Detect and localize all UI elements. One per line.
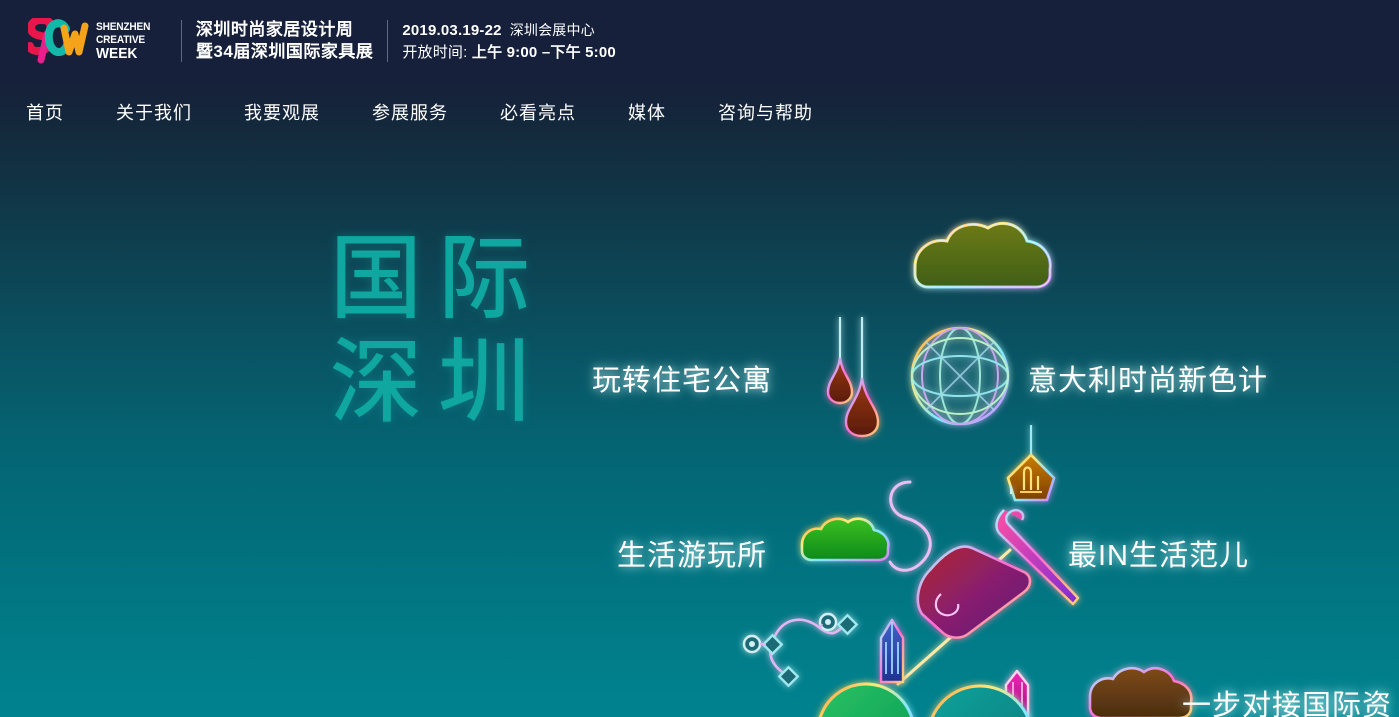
nav-item-highlights[interactable]: 必看亮点 — [500, 93, 576, 131]
nav-item-about-us[interactable]: 关于我们 — [116, 93, 192, 131]
brand-row: SHENZHEN CREATIVE WEEK 深圳时尚家居设计周 暨34届深圳国… — [28, 14, 616, 68]
event-name: 深圳时尚家居设计周 暨34届深圳国际家具展 — [196, 17, 373, 65]
hero-headline: 国 际 深 圳 — [330, 227, 530, 435]
page-root: SHENZHEN CREATIVE WEEK 深圳时尚家居设计周 暨34届深圳国… — [0, 0, 1399, 717]
logo-wordmark: SHENZHEN CREATIVE WEEK — [96, 18, 155, 64]
event-venue: 深圳会展中心 — [502, 22, 595, 38]
needle-thread-icon — [890, 482, 1078, 604]
nav-item-help[interactable]: 咨询与帮助 — [718, 93, 813, 131]
main-navigation: 首页 关于我们 我要观展 参展服务 必看亮点 媒体 咨询与帮助 — [0, 82, 1399, 142]
nav-item-media[interactable]: 媒体 — [628, 93, 666, 131]
brown-cloud-icon — [1090, 668, 1191, 717]
nav-item-home[interactable]: 首页 — [26, 93, 64, 131]
bezier-path-icon — [744, 614, 857, 686]
scw-logo-icon[interactable] — [28, 18, 90, 64]
feature-label-residential[interactable]: 玩转住宅公寓 — [592, 357, 772, 399]
hero-banner: 国 际 深 圳 — [0, 142, 1399, 717]
cloud-icon — [915, 223, 1050, 287]
event-date-row: 2019.03.19-22深圳会展中心 — [402, 19, 616, 42]
nav-item-visit[interactable]: 我要观展 — [244, 93, 320, 131]
magenta-pencil-icon — [1006, 671, 1028, 717]
small-cloud-icon — [802, 519, 888, 560]
headline-char-3: 深 — [330, 331, 422, 435]
headline-char-4: 圳 — [438, 331, 530, 435]
event-name-line-2: 暨34届深圳国际家具展 — [196, 41, 373, 63]
event-name-line-1: 深圳时尚家居设计周 — [196, 19, 373, 41]
teal-circle-icon — [928, 686, 1032, 717]
green-circle-icon — [818, 684, 914, 717]
lamp-shade-icon — [1008, 425, 1054, 500]
site-header: SHENZHEN CREATIVE WEEK 深圳时尚家居设计周 暨34届深圳国… — [0, 0, 1399, 82]
pendant-lamp-icon — [828, 317, 878, 436]
event-hours-value: 上午 9:00 –下午 5:00 — [472, 44, 616, 61]
pencil-icon — [881, 620, 903, 682]
event-info: 2019.03.19-22深圳会展中心 开放时间: 上午 9:00 –下午 5:… — [402, 17, 616, 65]
feature-label-lifestyle-play[interactable]: 生活游玩所 — [617, 532, 767, 574]
event-hours-label: 开放时间: — [402, 44, 467, 61]
feature-label-italian-color[interactable]: 意大利时尚新色计 — [1028, 357, 1268, 399]
globe-sphere-icon — [912, 328, 1008, 424]
event-hours-row: 开放时间: 上午 9:00 –下午 5:00 — [402, 42, 616, 64]
feature-label-most-in-life[interactable]: 最IN生活范儿 — [1068, 532, 1249, 574]
header-divider-1 — [181, 20, 182, 62]
logo-line-1: SHENZHEN — [96, 21, 150, 34]
hand-pen-icon — [898, 547, 1030, 684]
logo-line-3: WEEK — [96, 46, 150, 61]
neon-artwork-layer — [0, 142, 1399, 717]
header-divider-2 — [387, 20, 388, 62]
event-date: 2019.03.19-22 — [402, 22, 501, 39]
feature-label-global-resources[interactable]: 一步对接国际资 — [1182, 682, 1392, 717]
nav-item-exhibitor-services[interactable]: 参展服务 — [372, 93, 448, 131]
headline-char-1: 国 — [330, 227, 422, 331]
headline-char-2: 际 — [438, 227, 530, 331]
